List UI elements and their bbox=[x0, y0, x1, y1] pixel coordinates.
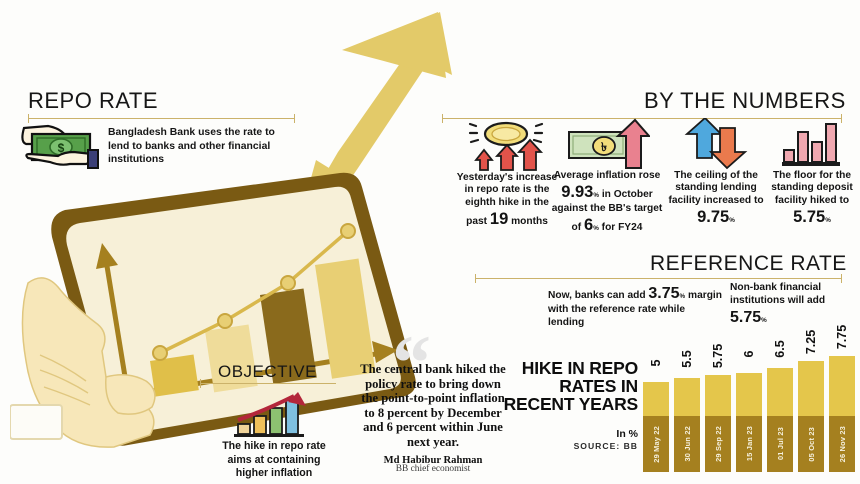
stat3-unit: % bbox=[729, 217, 735, 224]
stat2-unit: % bbox=[593, 192, 599, 199]
objective-title: OBJECTIVE bbox=[218, 362, 317, 382]
ref1-lead: Now, banks can add bbox=[548, 290, 646, 301]
chart-bar-column: 7.7526 Nov 23 bbox=[829, 356, 855, 472]
chart-bar-column: 7.2505 Oct 23 bbox=[798, 361, 824, 472]
objective-description: The hike in repo rate aims at containing… bbox=[212, 440, 336, 481]
chart-source: SOURCE: BB bbox=[488, 441, 638, 451]
chart-bar-column: 5.7529 Sep 22 bbox=[705, 375, 731, 472]
repo-rate-description: Bangladesh Bank uses the rate to lend to… bbox=[108, 126, 293, 167]
chart-bar-date-band: 29 Sep 22 bbox=[705, 416, 731, 472]
chart-bar: 7.7526 Nov 23 bbox=[829, 356, 855, 472]
chart-bar: 529 May 22 bbox=[643, 382, 669, 472]
stat-card-lending-ceiling: The ceiling of the standing lending faci… bbox=[664, 118, 768, 227]
ref1-value: 3.75 bbox=[648, 285, 679, 302]
chart-bar-value: 5.75 bbox=[711, 344, 725, 368]
stat-card-repo-hikes: Yesterday's increase in repo rate is the… bbox=[455, 120, 559, 229]
banknote-up-arrow-icon: ৳ bbox=[550, 118, 664, 170]
chart-bar-value: 7.25 bbox=[804, 330, 818, 354]
stat-card-repo-hikes-text: Yesterday's increase in repo rate is the… bbox=[455, 172, 559, 229]
chart-bar-value: 7.75 bbox=[835, 325, 849, 349]
stat2-value: 9.93 bbox=[561, 183, 593, 201]
chart-bar-column: 615 Jan 23 bbox=[736, 373, 762, 472]
chart-bar: 6.501 Jul 23 bbox=[767, 368, 793, 472]
up-down-arrows-icon bbox=[664, 118, 768, 170]
chart-bar-date-label: 30 Jun 22 bbox=[683, 426, 692, 462]
stat-card-inflation: ৳ Average inflation rose 9.93% in Octobe… bbox=[550, 118, 664, 235]
chart-bar-date-band: 05 Oct 23 bbox=[798, 416, 824, 472]
reference-banks-margin: Now, banks can add 3.75% margin with the… bbox=[548, 284, 723, 330]
chart-bar: 615 Jan 23 bbox=[736, 373, 762, 472]
chart-bar-value: 6 bbox=[742, 351, 756, 358]
chart-bar-column: 5.530 Jun 22 bbox=[674, 378, 700, 472]
stat3-lead: The ceiling of the standing lending faci… bbox=[668, 170, 763, 206]
reference-nbfi-margin: Non-bank financial institutions will add… bbox=[730, 282, 850, 328]
growth-bar-chart-icon bbox=[232, 392, 316, 440]
svg-text:৳: ৳ bbox=[601, 140, 607, 154]
chart-bar-date-band: 29 May 22 bbox=[643, 416, 669, 472]
chart-bar-value: 5.5 bbox=[680, 350, 694, 367]
chart-bar-date-label: 26 Nov 23 bbox=[838, 426, 847, 462]
bar-chart-icon bbox=[760, 118, 860, 170]
infographic-canvas: REPO RATE $ Bangladesh Bank uses the rat… bbox=[0, 0, 860, 484]
stat1-value: 19 bbox=[490, 210, 508, 228]
ref1-unit: % bbox=[680, 293, 686, 300]
chart-bar-date-label: 29 Sep 22 bbox=[714, 426, 723, 462]
quote-text: The central bank hiked the policy rate t… bbox=[358, 362, 508, 450]
chart-bar-column: 6.501 Jul 23 bbox=[767, 368, 793, 472]
stat2-unit2: % bbox=[593, 225, 599, 232]
stat3-value: 9.75 bbox=[697, 208, 729, 226]
stat2-tail: for FY24 bbox=[602, 222, 643, 233]
chart-bar-date-label: 29 May 22 bbox=[652, 426, 661, 463]
stat1-unit: months bbox=[511, 216, 548, 227]
chart-subtitle: In % bbox=[488, 428, 638, 440]
chart-bar-date-label: 05 Oct 23 bbox=[807, 427, 816, 462]
stat4-lead: The floor for the standing deposit facil… bbox=[771, 170, 853, 206]
stat2-value2: 6 bbox=[584, 216, 593, 234]
objective-rule bbox=[200, 383, 336, 384]
by-the-numbers-title: BY THE NUMBERS bbox=[644, 88, 846, 114]
chart-bar-value: 5 bbox=[649, 360, 663, 367]
ref2-unit: % bbox=[761, 317, 767, 324]
chart-bar-date-band: 15 Jan 23 bbox=[736, 416, 762, 472]
chart-bar: 5.530 Jun 22 bbox=[674, 378, 700, 472]
chart-bar-date-band: 30 Jun 22 bbox=[674, 416, 700, 472]
ref2-lead: Non-bank financial institutions will add bbox=[730, 282, 825, 306]
chart-bar-value: 6.5 bbox=[773, 340, 787, 357]
chart-bar-date-band: 01 Jul 23 bbox=[767, 416, 793, 472]
repo-rate-bar-chart: HIKE IN REPO RATES IN RECENT YEARS In % … bbox=[505, 344, 860, 484]
chart-bars: 529 May 225.530 Jun 225.7529 Sep 22615 J… bbox=[643, 354, 860, 472]
quote-author-role: BB chief economist bbox=[358, 464, 508, 474]
chart-bar: 7.2505 Oct 23 bbox=[798, 361, 824, 472]
stat2-lead: Average inflation rose bbox=[554, 170, 661, 181]
chart-bar-date-label: 15 Jan 23 bbox=[745, 426, 754, 461]
stat-card-deposit-floor: The floor for the standing deposit facil… bbox=[760, 118, 860, 227]
stat-card-deposit-floor-text: The floor for the standing deposit facil… bbox=[760, 170, 860, 227]
chart-bar-column: 529 May 22 bbox=[643, 382, 669, 472]
stat4-value: 5.75 bbox=[793, 208, 825, 226]
chart-bar-date-band: 26 Nov 23 bbox=[829, 416, 855, 472]
stat4-unit: % bbox=[825, 217, 831, 224]
reference-rate-title: REFERENCE RATE bbox=[650, 252, 847, 276]
reference-rate-rule bbox=[475, 278, 842, 279]
chart-bar: 5.7529 Sep 22 bbox=[705, 375, 731, 472]
cash-exchange-icon: $ bbox=[18, 118, 104, 174]
stat-card-inflation-text: Average inflation rose 9.93% in October … bbox=[550, 170, 664, 235]
chart-title: HIKE IN REPO RATES IN RECENT YEARS bbox=[488, 360, 638, 414]
ref2-value: 5.75 bbox=[730, 309, 761, 326]
repo-rate-title: REPO RATE bbox=[28, 88, 158, 114]
chart-bar-date-label: 01 Jul 23 bbox=[776, 427, 785, 460]
coin-rising-arrows-icon bbox=[455, 120, 559, 172]
stat-card-lending-ceiling-text: The ceiling of the standing lending faci… bbox=[664, 170, 768, 227]
